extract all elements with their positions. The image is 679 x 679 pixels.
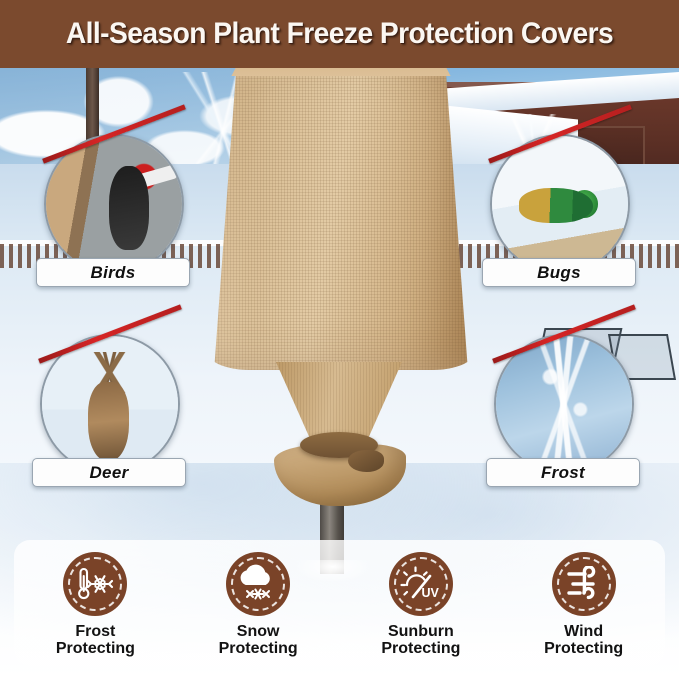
feature-label-line2: Protecting xyxy=(381,641,460,658)
feature-wind: Wind Protecting xyxy=(509,552,659,658)
badge-label-birds: Birds xyxy=(36,258,190,287)
feature-label-line2: Protecting xyxy=(56,641,135,658)
feature-frost: Frost Protecting xyxy=(20,552,170,658)
feature-sunburn: UV Sunburn Protecting xyxy=(346,552,496,658)
product-marketing-image: All-Season Plant Freeze Protection Cover… xyxy=(0,0,679,679)
badge-label-text: Birds xyxy=(91,263,136,283)
feature-label-line1: Snow xyxy=(237,623,280,640)
cloud-snow-icon xyxy=(226,552,290,616)
feature-label-line1: Sunburn xyxy=(388,623,454,640)
burlap-cover-body xyxy=(206,40,476,370)
thermometer-snowflake-icon xyxy=(63,552,127,616)
badge-label-bugs: Bugs xyxy=(482,258,636,287)
feature-label-sunburn: Sunburn Protecting xyxy=(381,624,460,658)
feature-label-line2: Protecting xyxy=(544,641,623,658)
plant-cover-product xyxy=(188,40,488,460)
woodpecker-image xyxy=(46,136,182,272)
header-banner: All-Season Plant Freeze Protection Cover… xyxy=(0,0,679,68)
feature-label-wind: Wind Protecting xyxy=(544,624,623,658)
feature-label-line2: Protecting xyxy=(219,641,298,658)
badge-label-deer: Deer xyxy=(32,458,186,487)
feature-label-line1: Frost xyxy=(75,623,115,640)
feature-label-snow: Snow Protecting xyxy=(219,624,298,658)
feature-label-line1: Wind xyxy=(564,623,603,640)
deer-image xyxy=(42,336,178,472)
svg-text:UV: UV xyxy=(421,586,439,600)
drawstring-knot xyxy=(348,450,384,472)
badge-label-frost: Frost xyxy=(486,458,640,487)
badge-label-text: Deer xyxy=(89,463,128,483)
sun-uv-icon: UV xyxy=(389,552,453,616)
beetle-image xyxy=(492,136,628,272)
feature-panel: Frost Protecting Snow xyxy=(14,540,665,666)
wind-lines-icon xyxy=(552,552,616,616)
feature-snow: Snow Protecting xyxy=(183,552,333,658)
feature-label-frost: Frost Protecting xyxy=(56,624,135,658)
badge-label-text: Frost xyxy=(541,463,585,483)
frosted-branches-image xyxy=(496,336,632,472)
page-title: All-Season Plant Freeze Protection Cover… xyxy=(20,0,658,68)
badge-label-text: Bugs xyxy=(537,263,581,283)
